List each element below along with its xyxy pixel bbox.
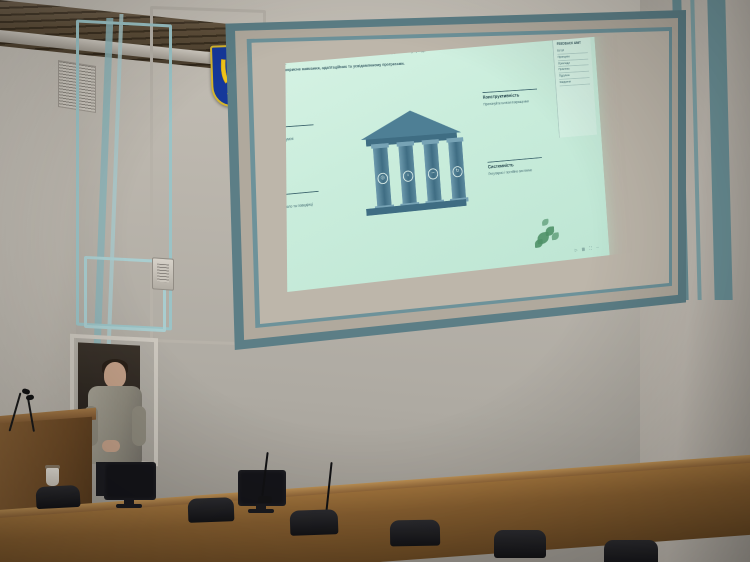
principle-block-constructive: Конструктивність Пропонуйте шляхи покращ…	[483, 89, 538, 107]
play-icon[interactable]: ▷	[575, 248, 578, 253]
slide-sidebar[interactable]: FEEDBACK UNIT Вступ Принципи Приклади Пр…	[552, 37, 597, 138]
presenter-arm-right	[132, 406, 146, 446]
pillar-systematic: ↻	[448, 141, 466, 199]
chair	[494, 530, 546, 558]
pillar-clarity: ◎	[373, 147, 392, 207]
sidebar-item-tasks[interactable]: Завдання	[559, 78, 590, 86]
presenter-hands	[102, 440, 120, 452]
pillar-capital	[446, 137, 463, 143]
sidebar-title: FEEDBACK UNIT	[557, 40, 588, 46]
chair	[604, 540, 658, 562]
chair	[390, 520, 440, 547]
refresh-icon: ↻	[452, 166, 463, 178]
projected-slide-area: M Mentorama Принципи ефективного зворотн…	[276, 32, 651, 292]
projection-screen: M Mentorama Принципи ефективного зворотн…	[216, 10, 686, 350]
monitor-base	[116, 504, 142, 508]
pillar-capital	[397, 141, 415, 147]
classical-temple-icon: ◎ ♀ ∽	[359, 107, 467, 217]
presenter-head	[104, 362, 126, 388]
lecture-hall-photo: M Mentorama Принципи ефективного зворотн…	[0, 0, 750, 562]
monitor-base	[248, 509, 274, 513]
handshake-icon: ∽	[428, 168, 439, 180]
chair	[35, 485, 80, 509]
fullscreen-icon[interactable]: ⛶	[589, 246, 592, 251]
coffee-cup	[46, 468, 59, 486]
monitor	[104, 462, 156, 500]
chair	[290, 509, 339, 536]
lightbulb-icon: ♀	[403, 170, 414, 182]
principle-block-systematic: Системність Регулярно і постійно системн…	[488, 157, 543, 176]
wall-speaker-icon	[152, 257, 174, 291]
grid-icon[interactable]: ▦	[582, 247, 586, 252]
target-icon: ◎	[377, 172, 388, 184]
pillar-constructive: ∽	[423, 143, 441, 202]
pillar-choice: ♀	[398, 145, 416, 204]
pillar-capital	[422, 139, 439, 145]
chair	[188, 497, 235, 523]
pillar-capital	[371, 143, 389, 149]
more-icon[interactable]: ⋯	[596, 245, 600, 250]
microphone-base	[258, 496, 272, 503]
